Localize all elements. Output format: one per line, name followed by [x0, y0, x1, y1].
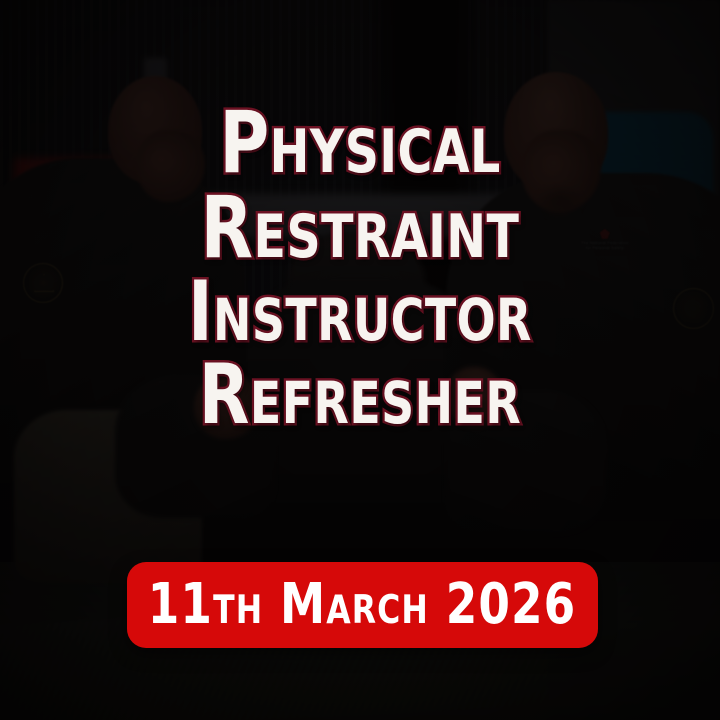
poster-title: Physical Restraint Instructor Refresher — [0, 104, 720, 439]
event-date-banner: 11th March 2026 — [127, 562, 598, 648]
title-line-3: Instructor — [43, 274, 677, 350]
event-date-label: 11th March 2026 — [148, 577, 577, 633]
title-line-1: Physical — [43, 104, 677, 183]
title-line-2: Restraint — [43, 189, 677, 268]
title-line-4: Refresher — [43, 357, 677, 433]
promo-poster: The National Federation for Personal Saf… — [0, 0, 720, 720]
